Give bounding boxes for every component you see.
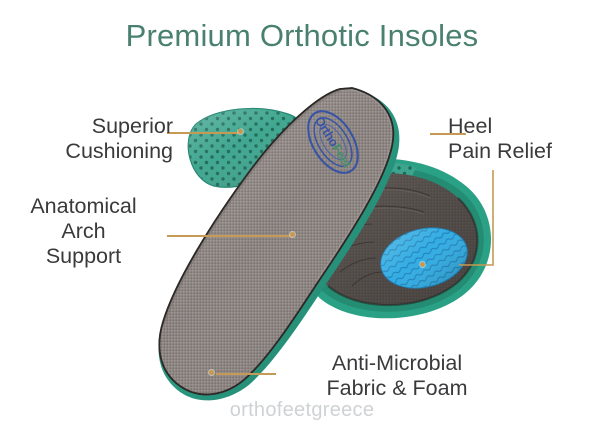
watermark: orthofeetgreece xyxy=(0,399,604,422)
leader-dot-superior-cushioning xyxy=(238,129,243,134)
callout-heel-pain-relief: Heel Pain Relief xyxy=(448,114,600,164)
leader-dot-anatomical-arch-support xyxy=(290,232,295,237)
callout-anti-microbial-fabric-foam: Anti-Microbial Fabric & Foam xyxy=(282,351,512,401)
callout-superior-cushioning: Superior Cushioning xyxy=(8,114,173,164)
callout-anatomical-arch-support: Anatomical Arch Support xyxy=(2,194,165,269)
page-title: Premium Orthotic Insoles xyxy=(0,18,604,54)
leader-anatomical-arch-support xyxy=(167,235,293,237)
leader-dot-anti-microbial xyxy=(209,370,214,375)
leader-anti-microbial xyxy=(216,373,276,375)
leader-superior-cushioning xyxy=(167,132,241,134)
product-feature-graphic: OrthoFeet ® OrthoFee xyxy=(0,0,604,427)
leader-dot-heel-pain-relief xyxy=(420,262,425,267)
